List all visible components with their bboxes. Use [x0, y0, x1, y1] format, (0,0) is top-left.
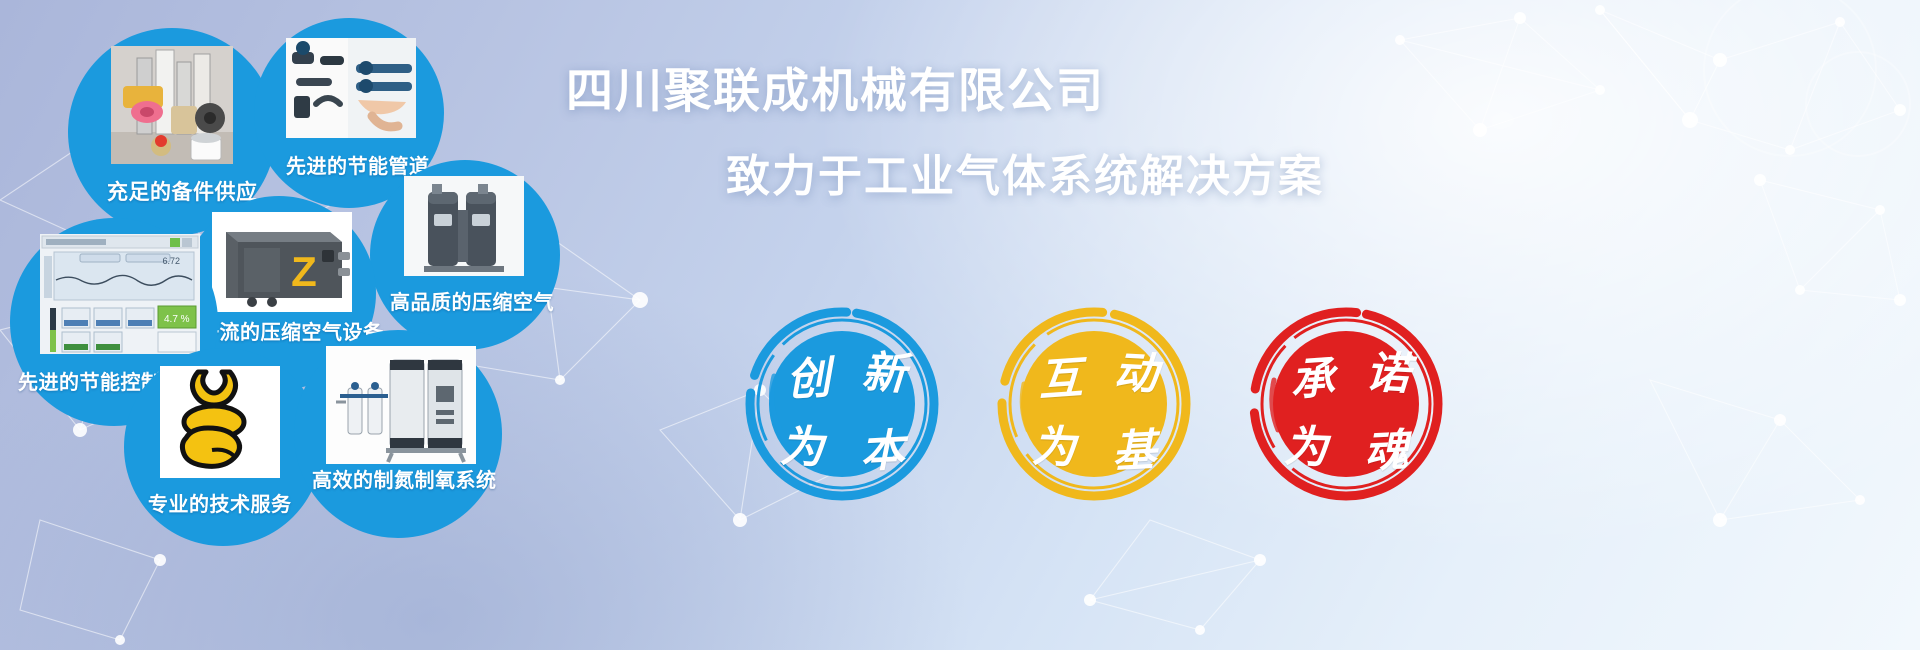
seal-interaction-text: 互 动 为 基: [996, 306, 1192, 502]
seal-char-3: 为: [779, 410, 825, 475]
thumbnail-psa-nitrogen-plant: [326, 346, 476, 464]
thumbnail-wrench-thumbs-up: [160, 366, 280, 478]
caption-tech-service: 专业的技术服务: [148, 488, 292, 517]
seal-char-2: 动: [1112, 336, 1159, 402]
thumbnail-screw-compressor: Z: [212, 212, 352, 312]
svg-text:6.72: 6.72: [162, 256, 180, 266]
seal-innovation-text: 创 新 为 本: [744, 306, 940, 502]
seal-char-1: 承: [1288, 342, 1336, 409]
product-bubble-cluster: 充足的备件供应: [0, 0, 620, 650]
seal-char-2: 新: [860, 336, 907, 402]
svg-text:4.7 %: 4.7 %: [164, 314, 190, 325]
page-subtitle: 致力于工业气体系统解决方案: [726, 140, 1324, 204]
product-bubble-quality-air[interactable]: 高品质的压缩空气: [370, 160, 560, 350]
product-bubble-nitrogen-oxygen[interactable]: 高效的制氮制氧系统: [294, 330, 502, 538]
thumbnail-air-filter-elements: [111, 46, 233, 164]
company-banner: 充足的备件供应: [0, 0, 1920, 650]
seal-commitment[interactable]: 承 诺 为 魂: [1248, 306, 1444, 502]
thumbnail-scada-control-screen: 6.72 4.7 %: [40, 234, 200, 354]
seal-char-4: 基: [1110, 414, 1157, 480]
caption-spare-parts: 充足的备件供应: [107, 176, 258, 206]
thumbnail-desiccant-dryer: [404, 176, 524, 276]
seal-char-1: 创: [784, 342, 832, 409]
seal-interaction[interactable]: 互 动 为 基: [996, 306, 1192, 502]
svg-text:Z: Z: [291, 248, 317, 295]
caption-quality-air: 高品质的压缩空气: [390, 286, 554, 315]
seal-commitment-text: 承 诺 为 魂: [1248, 306, 1444, 502]
seal-char-3: 为: [1283, 410, 1329, 475]
seal-innovation[interactable]: 创 新 为 本: [744, 306, 940, 502]
seal-char-4: 本: [858, 414, 905, 480]
thumbnail-aluminium-piping: [286, 38, 416, 138]
seal-char-4: 魂: [1362, 414, 1409, 480]
seal-char-2: 诺: [1364, 336, 1411, 402]
seal-char-1: 互: [1036, 342, 1084, 409]
caption-nitrogen-oxygen: 高效的制氮制氧系统: [312, 464, 497, 493]
page-title: 四川聚联成机械有限公司: [566, 52, 1105, 121]
caption-energy-piping: 先进的节能管道: [286, 150, 430, 179]
product-bubble-tech-service[interactable]: 专业的技术服务: [124, 348, 322, 546]
seal-char-3: 为: [1031, 410, 1077, 475]
